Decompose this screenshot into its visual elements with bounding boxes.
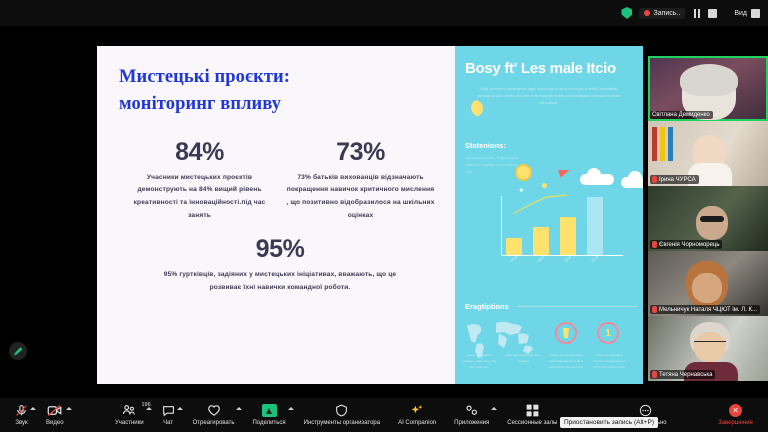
participant-name: Євгенія Чорноморець — [659, 242, 719, 248]
more-ellipsis-icon — [639, 404, 652, 417]
chevron-up-icon[interactable] — [177, 407, 183, 410]
participant-tile[interactable]: Світлана Демиденко — [648, 56, 768, 121]
react-button[interactable]: Отреагировать — [184, 398, 244, 432]
ai-companion-label: AI Companion — [398, 420, 436, 426]
breakout-rooms-button[interactable]: Сессионные залы — [498, 398, 566, 432]
ai-companion-button[interactable]: AI Companion — [389, 398, 445, 432]
participant-name-badge: Тетяна Чернавська — [650, 370, 715, 379]
mic-muted-icon — [15, 404, 28, 417]
participant-name-badge: Ірина ЧУРСА — [650, 175, 699, 184]
react-label: Отреагировать — [193, 420, 235, 426]
participant-filmstrip[interactable]: Світлана Демиденко Ірина ЧУРСА — [648, 56, 768, 381]
stat-block: 73% 73% батьків вихованців відзначають п… — [280, 138, 441, 223]
participant-name: Ірина ЧУРСА — [659, 177, 696, 183]
number-one-circle-icon: 1 — [597, 322, 619, 344]
host-shield-icon — [335, 404, 348, 417]
end-label: Завершение — [718, 420, 753, 426]
stat-block: 84% Учасники мистецьких проєктів демонст… — [119, 138, 280, 223]
zoom-meeting-window: Запись.. Вид Мистецькі проєкти: монітори… — [0, 0, 768, 432]
participant-name: Світлана Демиденко — [652, 112, 710, 118]
stat-value: 84% — [125, 138, 274, 167]
share-screen-icon — [262, 404, 277, 417]
camera-muted-icon — [47, 404, 62, 417]
chart-bar — [560, 217, 576, 255]
end-call-icon: ✕ — [729, 404, 742, 417]
infographic-section1-heading: Statenions: — [465, 141, 633, 150]
chevron-up-icon[interactable] — [236, 407, 242, 410]
audio-button[interactable]: Звук — [6, 398, 37, 432]
sparkle-icon — [410, 404, 424, 417]
stop-recording-icon[interactable] — [708, 9, 717, 18]
apps-button[interactable]: Приложения — [445, 398, 498, 432]
participant-name-badge: Світлана Демиденко — [650, 111, 713, 119]
participants-label: Участники — [115, 420, 144, 426]
share-label: Поделиться — [252, 420, 285, 426]
cloud-icon — [580, 174, 614, 185]
cloud-icon — [621, 177, 643, 188]
participant-tile[interactable]: Мельничук Наталя ЧЦЮТ ім. Л. К... — [648, 251, 768, 316]
yellow-dot-icon — [542, 183, 547, 188]
participant-name: Тетяна Чернавська — [659, 372, 712, 378]
coin-badge-icon — [515, 164, 532, 181]
annotate-button[interactable] — [9, 342, 27, 360]
chevron-up-icon[interactable] — [491, 407, 497, 410]
stat-block: 95% 95% гуртківців, задіяних у мистецьки… — [119, 235, 441, 295]
chat-icon — [162, 404, 175, 417]
infographic-title: Bosy ft' Les male Itcio — [465, 60, 633, 77]
pause-recording-icon[interactable] — [692, 9, 701, 18]
number-one-icon: 1 — [605, 328, 611, 339]
chat-button[interactable]: Чат — [153, 398, 184, 432]
stat-description: Учасники мистецьких проєктів демонструют… — [125, 172, 274, 223]
stat-description: 95% гуртківців, задіяних у мистецьких ін… — [157, 269, 403, 295]
mic-muted-icon — [652, 176, 657, 183]
trophy-circle-icon — [555, 322, 577, 344]
host-tools-button[interactable]: Инструменты организатора — [295, 398, 389, 432]
infographic-caption: here lian tit thee twist yeu uni bhorl — [505, 352, 541, 364]
chevron-up-icon[interactable] — [146, 407, 152, 410]
view-selector[interactable]: Вид — [734, 9, 760, 18]
chat-label: Чат — [163, 420, 173, 426]
stat-description: 73% батьків вихованців відзначають покра… — [286, 172, 435, 223]
meeting-stage: Мистецькі проєкти: моніторинг впливу 84%… — [0, 26, 768, 398]
breakout-grid-icon — [526, 404, 539, 417]
divider — [517, 306, 637, 307]
infographic-caption: Laeen ut erateroni inoutiore , Viejo msi… — [461, 352, 497, 370]
infographic-section2-heading: Eragtiptions — [465, 302, 509, 311]
encryption-shield-icon[interactable] — [621, 7, 632, 19]
chevron-up-icon[interactable] — [66, 407, 72, 410]
infographic-panel: Bosy ft' Les male Itcio Nolly you retion… — [455, 46, 643, 384]
audio-label: Звук — [15, 420, 27, 426]
participant-tile[interactable]: Ірина ЧУРСА — [648, 121, 768, 186]
shared-screen-slide: Мистецькі проєкти: моніторинг впливу 84%… — [97, 46, 643, 384]
participant-tile[interactable]: Євгенія Чорноморець — [648, 186, 768, 251]
chevron-up-icon[interactable] — [30, 407, 36, 410]
record-tooltip: Приостановить запись (Alt+P) — [560, 417, 658, 428]
participants-button[interactable]: Участники 196 — [106, 398, 153, 432]
record-dot-icon — [644, 10, 650, 16]
grid-icon — [751, 9, 760, 18]
infographic-caption: Qurrisp the iumbeurt lote corner atraetg… — [548, 352, 584, 370]
chart-x-labels: 2013 2014 2015 2016 — [506, 257, 624, 261]
share-screen-button[interactable]: Поделиться — [243, 398, 294, 432]
end-meeting-button[interactable]: ✕ Завершение — [709, 398, 762, 432]
trophy-icon — [562, 328, 570, 338]
meeting-toolbar: Звук Видео — [0, 398, 768, 432]
participant-name: Мельничук Наталя ЧЦЮТ ім. Л. К... — [659, 307, 757, 313]
mic-muted-icon — [652, 371, 657, 378]
mic-muted-icon — [652, 241, 657, 248]
participant-name-badge: Мельничук Наталя ЧЦЮТ ім. Л. К... — [650, 305, 760, 314]
meeting-top-bar: Запись.. Вид — [0, 0, 768, 26]
chevron-up-icon[interactable] — [288, 407, 294, 410]
breakout-label: Сессионные залы — [507, 420, 557, 426]
slide-title-line2: моніторинг впливу — [119, 91, 441, 118]
slide-text-panel: Мистецькі проєкти: моніторинг впливу 84%… — [97, 46, 455, 384]
slide-title-line1: Мистецькі проєкти: — [119, 64, 441, 91]
stat-value: 73% — [286, 138, 435, 167]
chart-trendline — [513, 194, 569, 216]
recording-indicator[interactable]: Запись.. — [639, 8, 685, 19]
infographic-subtitle: Nolly you retiond condexations flagal sc… — [465, 86, 633, 107]
view-label: Вид — [734, 10, 747, 17]
mic-muted-icon — [652, 306, 657, 313]
participant-tile[interactable]: Тетяна Чернавська — [648, 316, 768, 381]
participant-name-badge: Євгенія Чорноморець — [650, 240, 722, 249]
pencil-icon — [14, 347, 23, 356]
video-label: Видео — [46, 420, 64, 426]
video-button[interactable]: Видео — [37, 398, 73, 432]
apps-icon — [465, 404, 479, 417]
statistics-group: 84% Учасники мистецьких проєктів демонст… — [119, 138, 441, 295]
apps-label: Приложения — [454, 420, 489, 426]
chart-bar — [533, 227, 549, 255]
chart-bar — [587, 197, 603, 255]
infographic-caption: it inse the sameated imorsett mexeasunyo… — [591, 352, 627, 370]
recording-label: Запись.. — [653, 10, 680, 17]
stat-value: 95% — [157, 235, 403, 264]
paper-plane-red-icon — [558, 166, 571, 177]
host-tools-label: Инструменты организатора — [304, 420, 380, 426]
participants-icon — [122, 404, 136, 417]
heart-icon — [207, 404, 221, 417]
